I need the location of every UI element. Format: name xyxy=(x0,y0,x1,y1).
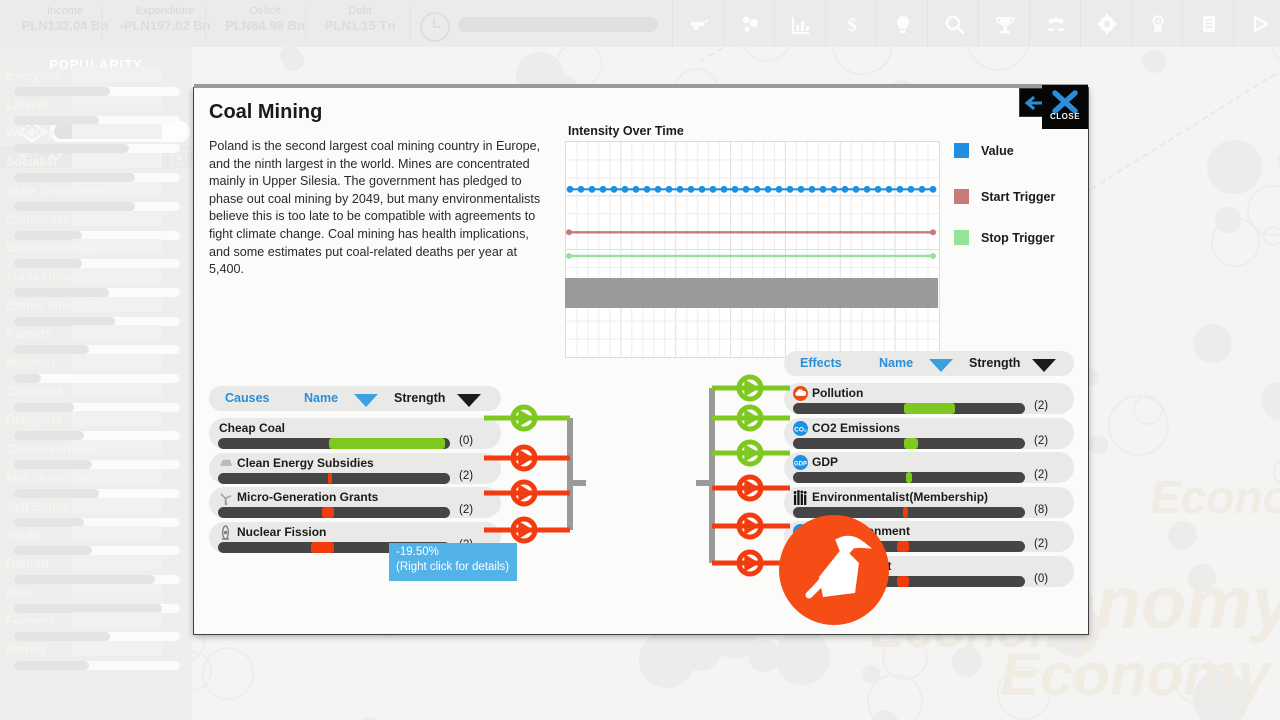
play-turn-icon xyxy=(1250,14,1270,34)
popularity-row[interactable]: Commuter xyxy=(0,213,192,241)
popularity-group-label: Parents xyxy=(6,327,52,341)
popularity-bar xyxy=(14,575,180,584)
strength-bar-fill xyxy=(328,473,331,484)
popularity-group-label: Retired xyxy=(6,557,49,571)
stat-label: Debt xyxy=(295,4,425,18)
popularity-group-label: State Employees xyxy=(6,184,106,198)
popularity-group-label: Youth xyxy=(6,528,40,542)
popularity-row[interactable]: Self Employed xyxy=(0,500,192,528)
popularity-row[interactable]: Everyone xyxy=(0,69,192,97)
watermark-icon xyxy=(1277,151,1280,172)
row-highlight xyxy=(72,96,162,111)
popularity-group-label: Everyone xyxy=(6,69,62,83)
close-button[interactable]: CLOSE xyxy=(1042,85,1088,129)
toolbar-settings-gear[interactable] xyxy=(1081,0,1132,47)
popularity-bar xyxy=(14,116,180,125)
policy-detail-dialog: Coal Mining Poland is the second largest… xyxy=(193,87,1089,635)
popularity-sidebar: POPULARITY EveryoneLiberalWealthySociali… xyxy=(0,47,192,720)
popularity-bar xyxy=(14,374,180,383)
popularity-group-label: Patriot xyxy=(6,643,46,657)
popularity-row[interactable]: Socialist xyxy=(0,155,192,183)
popularity-bar xyxy=(14,403,180,412)
popularity-bar-fill xyxy=(14,317,115,326)
voters-group-icon xyxy=(1046,14,1066,34)
popularity-row[interactable]: Youth xyxy=(0,528,192,556)
item-label: Micro-Generation Grants xyxy=(237,490,378,504)
item-count: (2) xyxy=(1034,538,1048,550)
popularity-bar-fill xyxy=(14,259,82,268)
popularity-bar-fill xyxy=(14,288,109,297)
settings-gear-icon xyxy=(1097,14,1117,34)
list-item[interactable]: Micro-Generation Grants(2) xyxy=(209,487,501,518)
strength-bar-fill xyxy=(903,507,908,518)
strength-bar-fill xyxy=(897,576,909,587)
popularity-row[interactable]: Parents xyxy=(0,327,192,355)
sort-by-strength[interactable]: Strength xyxy=(394,391,445,405)
popularity-row[interactable]: Poor xyxy=(0,586,192,614)
causes-title: Causes xyxy=(225,391,269,405)
popularity-bar xyxy=(14,546,180,555)
stat-value: PLN1.15 Tn xyxy=(295,18,425,34)
list-item[interactable]: Clean Energy Subsidies(2) xyxy=(209,453,501,484)
row-highlight xyxy=(72,67,162,82)
svg-text:GDP: GDP xyxy=(794,461,807,467)
toolbar-play-turn[interactable] xyxy=(1234,0,1280,47)
watermark-text: Economy xyxy=(1150,470,1280,524)
popularity-bar-fill xyxy=(14,575,155,584)
toolbar-population[interactable] xyxy=(724,0,775,47)
popularity-group-label: Trade Unionist xyxy=(6,270,93,284)
solar-panel-icon xyxy=(218,456,233,471)
popularity-bar-fill xyxy=(14,116,99,125)
list-item[interactable]: CO₂CO2 Emissions(2) xyxy=(784,418,1074,449)
popularity-bar xyxy=(14,144,180,153)
popularity-bar xyxy=(14,288,180,297)
bar-chart-icon xyxy=(791,14,811,34)
popularity-row[interactable]: Retired xyxy=(0,557,192,585)
row-highlight xyxy=(72,411,162,426)
pollution-cloud-icon xyxy=(793,386,808,401)
dialog-top-edge xyxy=(194,84,1088,88)
popularity-row[interactable]: State Employees xyxy=(0,184,192,212)
toolbar-achievements-trophy[interactable] xyxy=(979,0,1030,47)
population-icon xyxy=(740,14,760,34)
sort-by-name[interactable]: Name xyxy=(879,356,913,370)
row-highlight xyxy=(72,641,162,656)
popularity-group-label: Liberal xyxy=(6,98,47,112)
svg-text:CO₂: CO₂ xyxy=(794,426,807,433)
search-icon xyxy=(944,14,964,34)
popularity-row[interactable]: Wealthy xyxy=(0,126,192,154)
row-highlight xyxy=(72,211,162,226)
achievements-trophy-icon xyxy=(995,14,1015,34)
popularity-group-label: Conservatives xyxy=(6,442,91,456)
strength-bar-fill xyxy=(904,438,918,449)
strength-bar[interactable] xyxy=(793,472,1025,483)
item-label: Environmentalist(Membership) xyxy=(812,490,988,504)
row-highlight xyxy=(72,153,162,168)
legend-label: Stop Trigger xyxy=(981,231,1055,245)
item-count: (2) xyxy=(1034,400,1048,412)
popularity-bar-fill xyxy=(14,231,82,240)
strength-bar[interactable] xyxy=(218,507,450,518)
legend-swatch xyxy=(954,189,969,204)
popularity-bar xyxy=(14,604,180,613)
causes-header: Causes Name Strength xyxy=(209,386,501,411)
policy-description: Poland is the second largest coal mining… xyxy=(209,138,549,279)
wind-turbine-icon xyxy=(218,490,233,505)
sort-name-chevron-icon[interactable] xyxy=(354,394,378,407)
watermark-icon xyxy=(282,50,303,71)
popularity-row[interactable]: Liberal xyxy=(0,98,192,126)
toolbar-economy-dollar[interactable]: $ xyxy=(826,0,877,47)
popularity-bar-fill xyxy=(14,173,135,182)
legend-label: Start Trigger xyxy=(981,190,1055,204)
popularity-row[interactable]: Middle Income xyxy=(0,471,192,499)
list-item[interactable]: Environmentalist(Membership)(8) xyxy=(784,487,1074,518)
legend-item: Start Trigger xyxy=(954,189,1055,204)
strength-bar[interactable] xyxy=(218,473,450,484)
toolbar-voters-group[interactable] xyxy=(1030,0,1081,47)
item-label: Pollution xyxy=(812,386,863,400)
legend-label: Value xyxy=(981,144,1014,158)
popularity-bar-fill xyxy=(14,202,135,211)
item-label: GDP xyxy=(812,455,838,469)
chart-plot-area xyxy=(566,142,939,357)
popularity-bar-fill xyxy=(14,518,84,527)
co2-icon: CO₂ xyxy=(793,421,808,436)
strength-bar-fill xyxy=(904,403,955,414)
toolbar-search[interactable] xyxy=(928,0,979,47)
toolbar-reports-document[interactable] xyxy=(1183,0,1234,47)
stat-debt: Debt PLN1.15 Tn xyxy=(295,4,425,34)
effects-header: Effects Name Strength xyxy=(784,351,1074,376)
row-highlight xyxy=(72,584,162,599)
watermark-icon xyxy=(1215,207,1241,233)
strength-bar-fill xyxy=(329,438,445,449)
item-label: Clean Energy Subsidies xyxy=(237,456,374,470)
row-highlight xyxy=(72,612,162,627)
popularity-row[interactable]: Trade Unionist xyxy=(0,270,192,298)
watermark-icon xyxy=(1142,50,1165,73)
item-count: (2) xyxy=(1034,435,1048,447)
row-highlight xyxy=(72,383,162,398)
toolbar-awards-medal[interactable] xyxy=(1132,0,1183,47)
people-group-icon xyxy=(793,490,808,505)
row-highlight xyxy=(72,526,162,541)
tooltip-hint: (Right click for details) xyxy=(396,561,509,573)
row-highlight xyxy=(72,325,162,340)
popularity-group-label: Farmers xyxy=(6,614,55,628)
watermark-icon xyxy=(1263,226,1280,247)
chart-time-band xyxy=(565,278,938,308)
popularity-bar xyxy=(14,518,180,527)
sort-strength-chevron-icon[interactable] xyxy=(457,394,481,407)
popularity-bar-fill xyxy=(14,403,74,412)
top-bar: Income PLN132.04 Bn Expenditure -PLN197.… xyxy=(0,0,1280,47)
popularity-bar xyxy=(14,632,180,641)
legend-item: Stop Trigger xyxy=(954,230,1055,245)
list-item[interactable]: Cheap Coal(0) xyxy=(209,418,501,449)
close-icon xyxy=(1052,90,1078,114)
popularity-bar-fill xyxy=(14,661,89,670)
popularity-bar xyxy=(14,431,180,440)
row-highlight xyxy=(72,124,162,139)
popularity-row[interactable]: Farmers xyxy=(0,614,192,642)
toolbar-military[interactable] xyxy=(673,0,724,47)
effects-title: Effects xyxy=(800,356,842,370)
watermark-icon xyxy=(775,630,830,685)
popularity-bar-fill xyxy=(14,144,129,153)
item-count: (2) xyxy=(1034,469,1048,481)
popularity-bar xyxy=(14,231,180,240)
coal-mining-pickaxe-icon xyxy=(779,515,889,625)
popularity-bar-fill xyxy=(14,604,162,613)
sort-by-name[interactable]: Name xyxy=(304,391,338,405)
toolbar-bar-chart[interactable] xyxy=(775,0,826,47)
popularity-bar-fill xyxy=(14,489,99,498)
watermark-icon xyxy=(1133,395,1163,425)
row-highlight xyxy=(72,354,162,369)
legend-swatch xyxy=(954,230,969,245)
popularity-bar xyxy=(14,173,180,182)
popularity-group-label: Socialist xyxy=(6,155,57,169)
popularity-row[interactable]: Patriot xyxy=(0,643,192,671)
svg-text:$: $ xyxy=(847,15,857,34)
popularity-group-label: Environmentalist xyxy=(6,241,107,255)
watermark-icon xyxy=(1168,521,1197,550)
popularity-bar-fill xyxy=(14,87,110,96)
strength-bar[interactable] xyxy=(218,438,450,449)
popularity-group-label: Middle Income xyxy=(6,471,93,485)
popularity-group-label: Commuter xyxy=(6,213,69,227)
page-title: Coal Mining xyxy=(209,101,322,124)
gdp-icon: GDP xyxy=(793,455,808,470)
popularity-group-label: Self Employed xyxy=(6,500,92,514)
popularity-bar xyxy=(14,661,180,670)
close-label: CLOSE xyxy=(1042,112,1088,121)
popularity-row[interactable]: Environmentalist xyxy=(0,241,192,269)
watermark-icon xyxy=(556,41,603,88)
popularity-bar xyxy=(14,345,180,354)
toolbar-ideas-bulb[interactable] xyxy=(877,0,928,47)
causes-panel: Causes Name Strength Cheap Coal(0)Clean … xyxy=(209,386,501,411)
item-label: Cheap Coal xyxy=(219,421,285,435)
turn-progress-bar[interactable] xyxy=(458,17,658,32)
item-count: (0) xyxy=(459,435,473,447)
popularity-bar-fill xyxy=(14,345,89,354)
popularity-bar-fill xyxy=(14,374,41,383)
popularity-bar xyxy=(14,87,180,96)
tooltip-value: -19.50% xyxy=(396,546,439,558)
popularity-row[interactable]: Motorist xyxy=(0,356,192,384)
popularity-group-label: Wealthy xyxy=(6,126,54,140)
strength-tooltip: -19.50% (Right click for details) xyxy=(389,543,517,581)
watermark-icon xyxy=(1207,140,1261,194)
watermark-icon xyxy=(1261,382,1280,420)
popularity-row[interactable]: Capitalist xyxy=(0,385,192,413)
atom-icon xyxy=(218,525,233,540)
item-label: Nuclear Fission xyxy=(237,525,326,539)
clock-icon xyxy=(420,12,450,42)
watermark-icon xyxy=(639,631,695,687)
popularity-bar-fill xyxy=(14,632,110,641)
popularity-row[interactable]: Conservatives xyxy=(0,442,192,470)
item-label: CO2 Emissions xyxy=(812,421,900,435)
popularity-group-label: Ethnic Minorities xyxy=(6,299,107,313)
popularity-group-label: Motorist xyxy=(6,356,55,370)
popularity-bar xyxy=(14,460,180,469)
strength-bar[interactable] xyxy=(793,403,1025,414)
popularity-bar xyxy=(14,259,180,268)
military-icon xyxy=(689,14,709,34)
intensity-chart xyxy=(565,141,940,358)
strength-bar-fill xyxy=(311,542,334,553)
popularity-bar xyxy=(14,202,180,211)
strength-bar-fill xyxy=(906,472,913,483)
strength-bar-fill xyxy=(897,541,909,552)
popularity-group-label: Poor xyxy=(6,586,34,600)
sort-by-strength[interactable]: Strength xyxy=(969,356,1020,370)
effects-panel: Effects Name Strength Pollution(2)CO₂CO2… xyxy=(784,351,1074,376)
popularity-bar-fill xyxy=(14,460,92,469)
economy-dollar-icon: $ xyxy=(842,14,862,34)
awards-medal-icon xyxy=(1148,14,1168,34)
back-arrow-icon xyxy=(1024,96,1044,110)
watermark-icon xyxy=(867,674,922,720)
row-highlight xyxy=(72,555,162,570)
item-count: (8) xyxy=(1034,504,1048,516)
strength-bar-fill xyxy=(322,507,334,518)
popularity-group-label: Capitalist xyxy=(6,385,62,399)
popularity-group-label: Religious xyxy=(6,413,62,427)
popularity-bar xyxy=(14,317,180,326)
coal-mining-node[interactable] xyxy=(779,515,889,625)
item-count: (2) xyxy=(459,470,473,482)
popularity-bar-fill xyxy=(14,546,92,555)
strength-bar[interactable] xyxy=(793,438,1025,449)
popularity-bar-fill xyxy=(14,431,84,440)
item-count: (2) xyxy=(459,504,473,516)
popularity-row[interactable]: Ethnic Minorities xyxy=(0,299,192,327)
list-item[interactable]: GDPGDP(2) xyxy=(784,452,1074,483)
sort-name-chevron-icon[interactable] xyxy=(929,359,953,372)
list-item[interactable]: Pollution(2) xyxy=(784,383,1074,414)
legend-swatch xyxy=(954,143,969,158)
item-count: (0) xyxy=(1034,573,1048,585)
sort-strength-chevron-icon[interactable] xyxy=(1032,359,1056,372)
reports-document-icon xyxy=(1199,14,1219,34)
chart-title: Intensity Over Time xyxy=(568,124,684,138)
watermark-icon xyxy=(1088,435,1108,455)
popularity-bar xyxy=(14,489,180,498)
watermark-icon xyxy=(1193,324,1233,364)
popularity-row[interactable]: Religious xyxy=(0,413,192,441)
legend-item: Value xyxy=(954,143,1014,158)
ideas-bulb-icon xyxy=(893,14,913,34)
